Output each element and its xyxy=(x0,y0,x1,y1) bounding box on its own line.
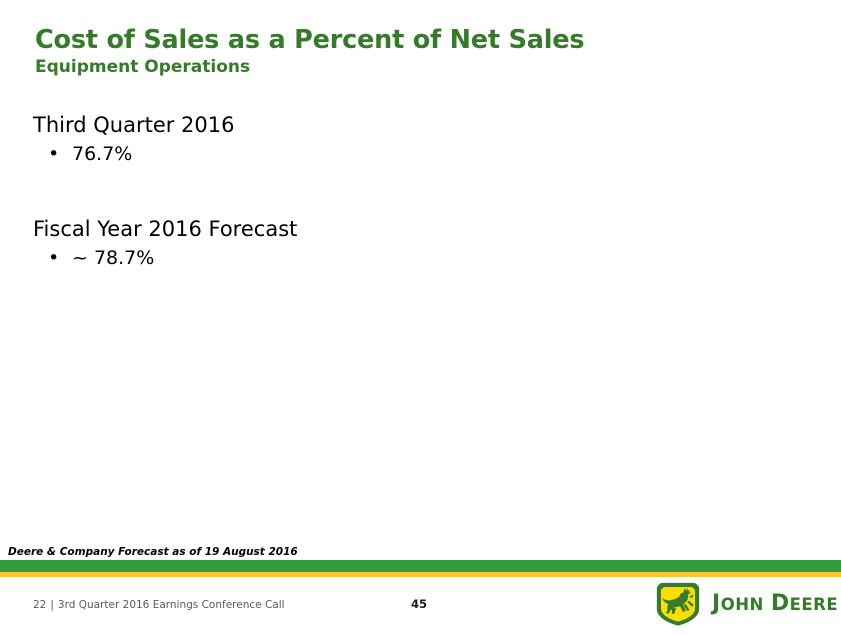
bullet-list-forecast: • ~ 78.7% xyxy=(33,246,733,271)
list-item: • 76.7% xyxy=(48,142,733,167)
brand-logo: JOHNDEERE xyxy=(655,581,838,627)
group-heading-quarter: Third Quarter 2016 xyxy=(33,112,733,138)
bullet-dot-icon: • xyxy=(48,142,59,167)
wordmark-deere-rest: EERE xyxy=(790,595,839,614)
footer-separator: | xyxy=(46,599,58,611)
footer-deck-info: 22|3rd Quarter 2016 Earnings Conference … xyxy=(33,599,285,611)
bullet-dot-icon: • xyxy=(48,246,59,271)
divider-bar-gold xyxy=(0,572,841,577)
page-title: Cost of Sales as a Percent of Net Sales xyxy=(35,26,795,54)
slide-canvas: Cost of Sales as a Percent of Net Sales … xyxy=(0,0,841,635)
group-heading-forecast: Fiscal Year 2016 Forecast xyxy=(33,216,733,242)
bullet-text: ~ 78.7% xyxy=(72,247,154,269)
brand-wordmark: JOHNDEERE xyxy=(712,593,838,615)
footer-deck-title: 3rd Quarter 2016 Earnings Conference Cal… xyxy=(58,599,285,611)
wordmark-john-rest: OHN xyxy=(721,595,764,614)
footnote-source: Deere & Company Forecast as of 19 August… xyxy=(8,546,298,558)
bullet-text: 76.7% xyxy=(72,143,132,165)
title-block: Cost of Sales as a Percent of Net Sales … xyxy=(35,26,795,77)
john-deere-leaping-deer-logo-icon xyxy=(655,581,701,627)
wordmark-deere-cap: D xyxy=(771,591,790,616)
slide-body: Third Quarter 2016 • 76.7% Fiscal Year 2… xyxy=(33,112,733,271)
page-subtitle: Equipment Operations xyxy=(35,57,795,77)
content-spacer xyxy=(33,167,733,216)
content-group-quarter: Third Quarter 2016 • 76.7% xyxy=(33,112,733,167)
list-item: • ~ 78.7% xyxy=(48,246,733,271)
content-group-forecast: Fiscal Year 2016 Forecast • ~ 78.7% xyxy=(33,216,733,271)
divider-bar-green xyxy=(0,560,841,572)
footer-slide-number: 22 xyxy=(33,599,46,611)
bullet-list-quarter: • 76.7% xyxy=(33,142,733,167)
page-number: 45 xyxy=(411,597,427,611)
wordmark-john-cap: J xyxy=(712,591,721,616)
